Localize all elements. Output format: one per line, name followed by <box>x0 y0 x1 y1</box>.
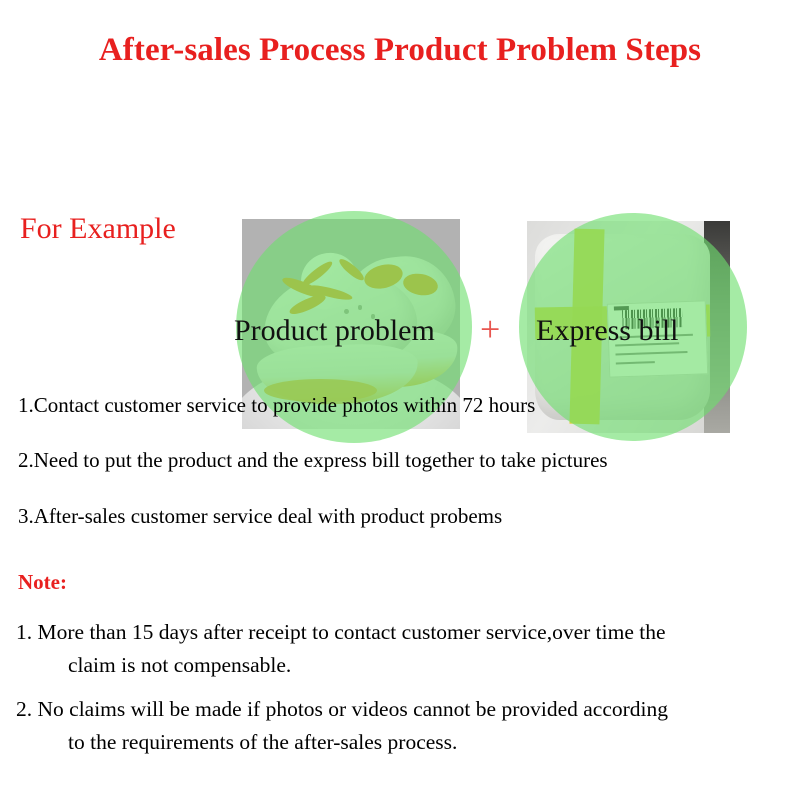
shipping-label-textline <box>616 360 655 363</box>
note-item: 2. No claims will be made if photos or v… <box>16 693 791 760</box>
steps-list: 1.Contact customer service to provide ph… <box>18 392 788 558</box>
product-problem-caption: Product problem <box>234 314 435 348</box>
note-heading: Note: <box>18 570 67 595</box>
note-item-line: to the requirements of the after-sales p… <box>42 726 791 759</box>
note-item-line: 1. More than 15 days after receipt to co… <box>16 620 666 644</box>
example-row: For Example <box>0 105 800 345</box>
shipping-label-textline <box>616 351 688 356</box>
for-example-label: For Example <box>20 212 176 246</box>
plus-icon: + <box>480 311 500 347</box>
note-item: 1. More than 15 days after receipt to co… <box>16 616 791 683</box>
note-item-line: 2. No claims will be made if photos or v… <box>16 697 668 721</box>
step-item: 1.Contact customer service to provide ph… <box>18 392 788 418</box>
page-title: After-sales Process Product Problem Step… <box>0 32 800 69</box>
note-list: 1. More than 15 days after receipt to co… <box>16 616 791 769</box>
step-item: 3.After-sales customer service deal with… <box>18 503 788 529</box>
note-item-line: claim is not compensable. <box>42 649 791 682</box>
step-item: 2.Need to put the product and the expres… <box>18 447 788 473</box>
express-bill-caption: Express bill <box>536 314 679 348</box>
